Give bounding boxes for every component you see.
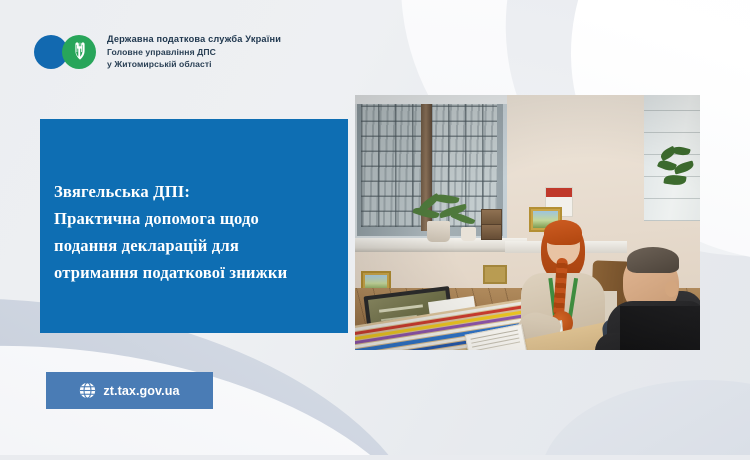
headline-panel: Звягельська ДПІ: Практична допомога щодо… bbox=[40, 119, 348, 333]
agency-name-line-1: Державна податкова служба України bbox=[107, 33, 281, 45]
headline-line-1: Звягельська ДПІ: bbox=[54, 179, 336, 206]
agency-name-line-2: Головне управління ДПС bbox=[107, 47, 281, 58]
photo-vignette bbox=[355, 95, 700, 350]
event-photo bbox=[355, 95, 700, 350]
bottom-edge-strip bbox=[0, 455, 750, 460]
banner-canvas: Державна податкова служба України Головн… bbox=[0, 0, 750, 460]
ukraine-trident-emblem bbox=[72, 42, 87, 61]
agency-name-block: Державна податкова служба України Головн… bbox=[107, 33, 281, 70]
website-url-text: zt.tax.gov.ua bbox=[103, 384, 179, 398]
globe-icon bbox=[79, 382, 96, 399]
agency-name-line-3: у Житомирській області bbox=[107, 59, 281, 70]
dps-logo bbox=[34, 35, 96, 69]
headline-line-3: подання декларацій для bbox=[54, 233, 336, 260]
headline-line-2: Практична допомога щодо bbox=[54, 206, 336, 233]
agency-header: Державна податкова служба України Головн… bbox=[34, 33, 281, 70]
website-url-badge[interactable]: zt.tax.gov.ua bbox=[46, 372, 213, 409]
dps-logo-green-circle bbox=[62, 35, 96, 69]
headline-line-4: отримання податкової знижки bbox=[54, 260, 336, 287]
